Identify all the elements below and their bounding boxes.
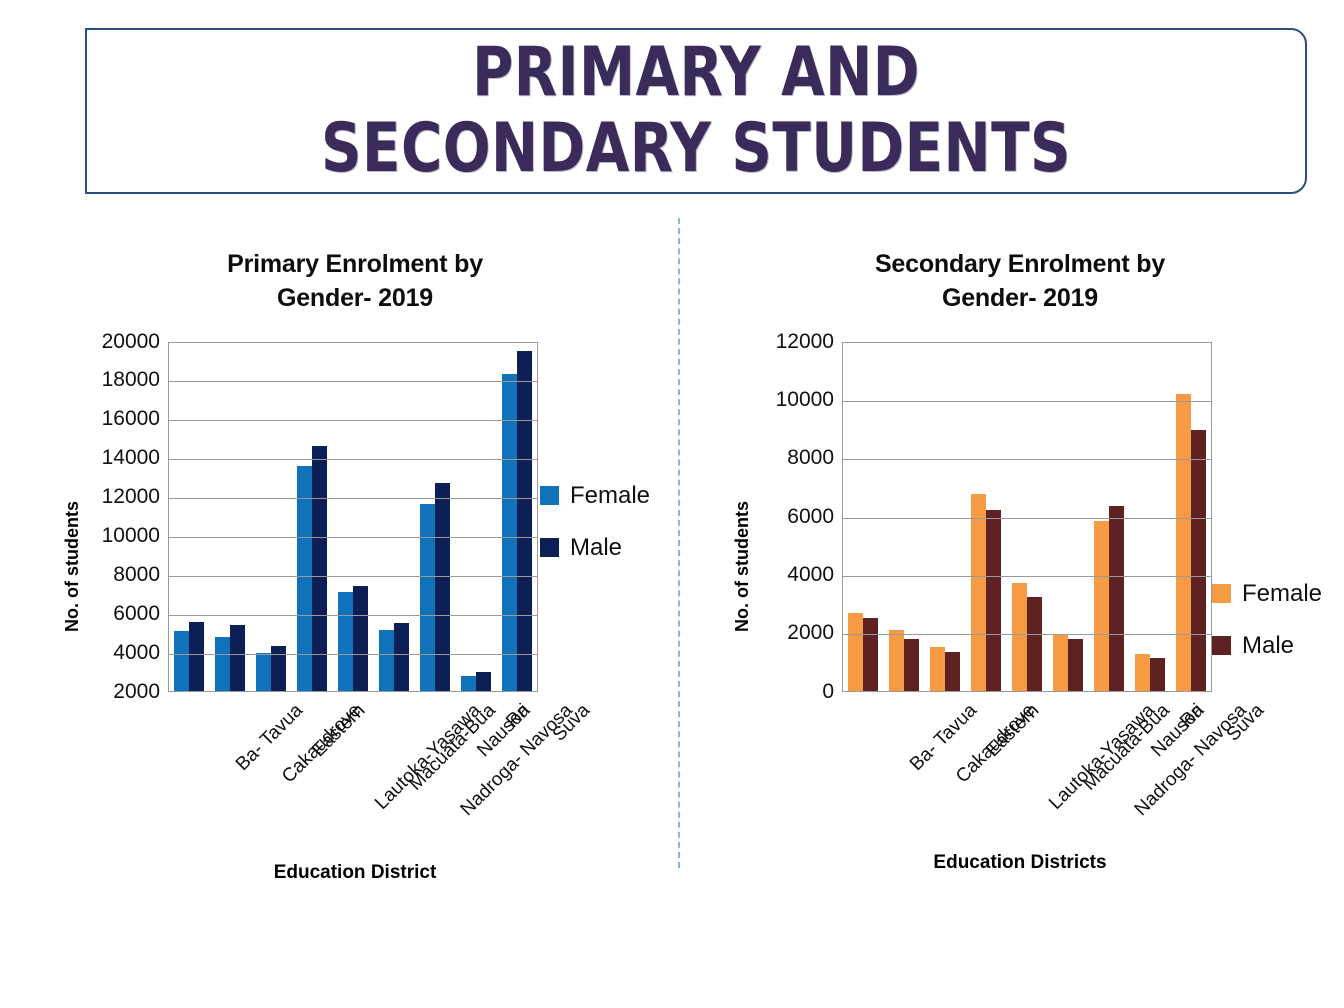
gridline — [843, 401, 1211, 402]
bar-group-container-primary — [169, 343, 537, 691]
legend-label: Female — [570, 482, 650, 510]
bar-group — [496, 343, 537, 691]
y-axis-secondary: 020004000600080001000012000 — [756, 342, 842, 692]
plot-area-primary: No. of students 200040006000800010000120… — [40, 342, 670, 692]
bar-female — [848, 613, 863, 690]
bar-male — [435, 483, 450, 690]
y-tick-label: 2000 — [787, 621, 834, 645]
legend-label: Male — [1242, 632, 1294, 660]
legend-swatch-icon — [1212, 584, 1231, 603]
gridline — [169, 576, 537, 577]
bar-group — [292, 343, 333, 691]
bar-female — [461, 676, 476, 691]
bar-male — [1150, 658, 1165, 690]
y-tick-label: 8000 — [787, 446, 834, 470]
bar-male — [230, 625, 245, 690]
x-axis-labels-primary: Ba- TavuaCakaudroveEasternLautoka-Yasawa… — [40, 694, 670, 844]
y-tick-label: 8000 — [113, 563, 160, 587]
bar-male — [1109, 506, 1124, 690]
gridline — [843, 576, 1211, 577]
legend-label: Male — [570, 534, 622, 562]
bar-female — [1176, 394, 1191, 691]
y-tick-label: 6000 — [787, 505, 834, 529]
chart-title-primary: Primary Enrolment by Gender- 2019 — [145, 248, 565, 316]
chart-title-primary-line2: Gender- 2019 — [145, 282, 565, 316]
bar-group — [1088, 343, 1129, 691]
bar-male — [394, 623, 409, 690]
x-tick-label: Eastern — [309, 700, 371, 762]
plot-frame-secondary — [842, 342, 1212, 692]
legend-secondary: FemaleMale — [1212, 580, 1322, 684]
x-tick-label: Eastern — [983, 700, 1045, 762]
gridline — [169, 615, 537, 616]
gridline — [169, 654, 537, 655]
chart-title-secondary: Secondary Enrolment by Gender- 2019 — [800, 248, 1240, 316]
bar-male — [1191, 430, 1206, 690]
plot-frame-primary — [168, 342, 538, 692]
bar-female — [338, 592, 353, 690]
bar-female — [971, 494, 986, 691]
bar-male — [517, 351, 532, 690]
chart-panel-primary: Primary Enrolment by Gender- 2019 No. of… — [40, 210, 670, 970]
bar-male — [1027, 597, 1042, 690]
bar-group — [1129, 343, 1170, 691]
bar-group — [455, 343, 496, 691]
bar-male — [271, 646, 286, 691]
legend-swatch-icon — [540, 538, 559, 557]
legend-item-male[interactable]: Male — [1212, 632, 1322, 660]
y-tick-label: 16000 — [102, 407, 160, 431]
bar-male — [945, 652, 960, 691]
bar-male — [986, 510, 1001, 691]
y-tick-label: 12000 — [102, 485, 160, 509]
legend-swatch-icon — [540, 486, 559, 505]
bar-male — [353, 586, 368, 690]
bar-group-container-secondary — [843, 343, 1211, 691]
plot-area-secondary: No. of students 020004000600080001000012… — [700, 342, 1340, 692]
bar-group — [169, 343, 210, 691]
bar-male — [863, 618, 878, 691]
bar-female — [256, 653, 271, 691]
bar-female — [889, 630, 904, 691]
bar-group — [843, 343, 884, 691]
legend-item-male[interactable]: Male — [540, 534, 650, 562]
y-tick-label: 4000 — [113, 641, 160, 665]
bar-group — [1007, 343, 1048, 691]
title-banner: PRIMARY AND SECONDARY STUDENTS — [85, 28, 1307, 194]
bar-female — [297, 466, 312, 691]
bar-female — [1094, 521, 1109, 691]
legend-label: Female — [1242, 580, 1322, 608]
gridline — [169, 498, 537, 499]
legend-item-female[interactable]: Female — [1212, 580, 1322, 608]
bar-female — [930, 647, 945, 691]
y-axis-primary: 2000400060008000100001200014000160001800… — [82, 342, 168, 692]
y-tick-label: 12000 — [776, 330, 834, 354]
y-tick-label: 14000 — [102, 446, 160, 470]
bar-female — [379, 630, 394, 690]
y-axis-title-primary: No. of students — [62, 501, 83, 632]
gridline — [169, 537, 537, 538]
gridline — [843, 518, 1211, 519]
bar-female — [1012, 583, 1027, 691]
bar-female — [420, 504, 435, 691]
bar-group — [251, 343, 292, 691]
x-axis-title-secondary: Education Districts — [700, 852, 1340, 874]
bar-female — [174, 631, 189, 690]
bar-female — [1053, 635, 1068, 690]
x-axis-labels-secondary: Ba- TavuaCakaudroveEasternLautoka-Yasawa… — [700, 694, 1340, 844]
chart-title-secondary-line1: Secondary Enrolment by — [800, 248, 1240, 282]
y-axis-title-secondary: No. of students — [732, 501, 753, 632]
gridline — [843, 634, 1211, 635]
bar-male — [476, 672, 491, 690]
y-tick-label: 20000 — [102, 330, 160, 354]
bar-group — [414, 343, 455, 691]
bar-group — [966, 343, 1007, 691]
gridline — [843, 459, 1211, 460]
bar-male — [1068, 639, 1083, 690]
y-tick-label: 10000 — [102, 524, 160, 548]
bar-group — [210, 343, 251, 691]
y-tick-label: 10000 — [776, 388, 834, 412]
chart-title-secondary-line2: Gender- 2019 — [800, 282, 1240, 316]
gridline — [169, 420, 537, 421]
bar-female — [215, 637, 230, 690]
legend-item-female[interactable]: Female — [540, 482, 650, 510]
bar-group — [373, 343, 414, 691]
x-axis-title-primary: Education District — [40, 862, 670, 884]
bar-male — [189, 622, 204, 690]
bar-group — [925, 343, 966, 691]
bar-female — [1135, 654, 1150, 690]
bar-group — [1170, 343, 1211, 691]
y-tick-label: 4000 — [787, 563, 834, 587]
y-tick-label: 6000 — [113, 602, 160, 626]
y-tick-label: 18000 — [102, 368, 160, 392]
gridline — [169, 381, 537, 382]
bar-group — [333, 343, 374, 691]
bar-group — [1047, 343, 1088, 691]
chart-title-primary-line1: Primary Enrolment by — [145, 248, 565, 282]
page-title: PRIMARY AND SECONDARY STUDENTS — [282, 35, 1110, 187]
gridline — [169, 459, 537, 460]
vertical-dashed-divider — [678, 218, 680, 868]
bar-group — [884, 343, 925, 691]
chart-panel-secondary: Secondary Enrolment by Gender- 2019 No. … — [700, 210, 1340, 970]
bar-male — [904, 639, 919, 691]
legend-primary: FemaleMale — [540, 482, 650, 586]
legend-swatch-icon — [1212, 636, 1231, 655]
